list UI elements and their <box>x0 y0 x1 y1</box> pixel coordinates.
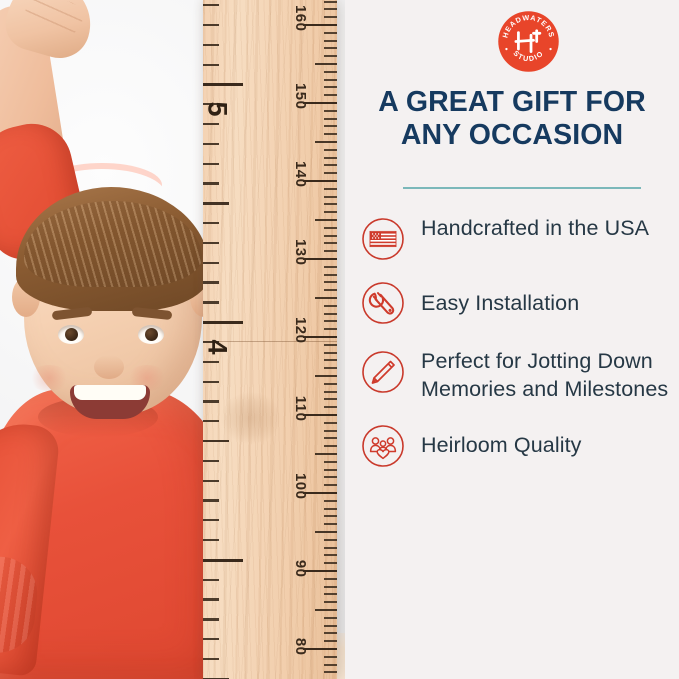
metric-tick-157 <box>324 47 337 49</box>
metric-label-80: 80 <box>293 638 310 656</box>
metric-tick-131 <box>324 250 337 252</box>
metric-tick-99 <box>324 500 337 502</box>
metric-tick-127 <box>324 281 337 283</box>
headwaters-studio-logo: HEADWATERS STUDIO <box>497 10 560 73</box>
metric-tick-86 <box>324 601 337 603</box>
metric-tick-146 <box>324 133 337 135</box>
metric-tick-116 <box>324 367 337 369</box>
metric-tick-84 <box>324 617 337 619</box>
feature-list: Handcrafted in the USA Easy Installation <box>361 214 679 485</box>
metric-tick-159 <box>324 32 337 34</box>
metric-tick-87 <box>324 593 337 595</box>
metric-tick-112 <box>324 398 337 400</box>
feature-label-heirloom: Heirloom Quality <box>421 431 582 460</box>
metric-tick-104 <box>324 461 337 463</box>
metric-tick-126 <box>324 289 337 291</box>
metric-tick-153 <box>324 79 337 81</box>
child-nose <box>94 355 124 379</box>
metric-tick-103 <box>324 469 337 471</box>
pencil-icon <box>361 350 405 394</box>
metric-tick-123 <box>324 313 337 315</box>
metric-tick-96 <box>324 523 337 525</box>
imperial-tick-62in <box>203 44 219 46</box>
metric-tick-83 <box>324 625 337 627</box>
imperial-tick-61in <box>203 64 219 66</box>
metric-tick-89 <box>324 578 337 580</box>
metric-label-160: 160 <box>293 5 310 32</box>
imperial-tick-55in <box>203 182 219 184</box>
imperial-tick-39in <box>203 499 219 501</box>
imperial-tick-35in <box>203 579 219 581</box>
metric-tick-95 <box>315 531 337 533</box>
metric-tick-132 <box>324 242 337 244</box>
imperial-foot-label-4: 4 <box>203 340 233 355</box>
metric-tick-122 <box>324 320 337 322</box>
imperial-tick-63in <box>203 24 219 26</box>
metric-tick-152 <box>324 86 337 88</box>
feature-label-memories: Perfect for Jotting Down Memories and Mi… <box>421 347 679 404</box>
imperial-tick-33in <box>203 618 219 620</box>
metric-tick-88 <box>324 586 337 588</box>
imperial-tick-50in <box>203 281 219 283</box>
imperial-tick-42in <box>203 440 229 442</box>
metric-tick-158 <box>324 40 337 42</box>
metric-tick-143 <box>324 157 337 159</box>
imperial-tick-31in <box>203 658 219 660</box>
metric-tick-133 <box>324 235 337 237</box>
metric-tick-142 <box>324 164 337 166</box>
feature-label-handcrafted: Handcrafted in the USA <box>421 214 649 243</box>
metric-tick-92 <box>324 554 337 556</box>
imperial-tick-38in <box>203 519 219 521</box>
metric-tick-141 <box>324 172 337 174</box>
logo-dot-left <box>505 48 507 50</box>
child-eye-right <box>138 325 164 344</box>
metric-tick-129 <box>324 266 337 268</box>
metric-tick-128 <box>324 274 337 276</box>
metric-tick-155 <box>315 63 337 65</box>
imperial-tick-51in <box>203 262 219 264</box>
imperial-tick-32in <box>203 638 219 640</box>
growth-chart-ruler: 1601501401301201101009080 54 <box>203 0 337 679</box>
metric-tick-156 <box>324 55 337 57</box>
metric-tick-93 <box>324 547 337 549</box>
wrench-icon <box>361 281 405 325</box>
metric-tick-115 <box>315 375 337 377</box>
metric-tick-114 <box>324 383 337 385</box>
imperial-tick-53in <box>203 222 219 224</box>
metric-label-100: 100 <box>293 473 310 500</box>
metric-tick-106 <box>324 445 337 447</box>
imperial-tick-52in <box>203 242 219 244</box>
metric-tick-111 <box>324 406 337 408</box>
metric-tick-107 <box>324 437 337 439</box>
metric-tick-105 <box>315 453 337 455</box>
usa-flag-icon <box>361 217 405 261</box>
metric-tick-117 <box>324 359 337 361</box>
child-cheek-left <box>28 365 70 391</box>
imperial-tick-64in <box>203 4 219 6</box>
page-title: A GREAT GIFT FOR ANY OCCASION <box>355 86 669 153</box>
metric-tick-85 <box>315 609 337 611</box>
family-heart-icon <box>361 424 405 468</box>
metric-label-150: 150 <box>293 83 310 110</box>
metric-tick-79 <box>324 656 337 658</box>
metric-tick-94 <box>324 539 337 541</box>
imperial-tick-43in <box>203 420 219 422</box>
imperial-tick-58in <box>203 123 219 125</box>
imperial-tick-60in <box>203 83 243 86</box>
metric-tick-91 <box>324 562 337 564</box>
headline-line-2: ANY OCCASION <box>401 119 623 151</box>
metric-tick-121 <box>324 328 337 330</box>
feature-item-handcrafted: Handcrafted in the USA <box>361 214 679 261</box>
metric-tick-108 <box>324 430 337 432</box>
metric-tick-139 <box>324 188 337 190</box>
imperial-foot-label-5: 5 <box>203 102 233 117</box>
metric-tick-78 <box>324 664 337 666</box>
feature-item-memories: Perfect for Jotting Down Memories and Mi… <box>361 347 679 404</box>
metric-tick-163 <box>324 1 337 3</box>
metric-tick-151 <box>324 94 337 96</box>
imperial-tick-34in <box>203 598 219 600</box>
imperial-tick-45in <box>203 381 219 383</box>
metric-tick-102 <box>324 476 337 478</box>
metric-tick-scale: 1601501401301201101009080 <box>297 0 337 679</box>
child-smile <box>70 385 150 419</box>
imperial-tick-54in <box>203 202 229 204</box>
imperial-tick-48in <box>203 321 243 324</box>
metric-tick-136 <box>324 211 337 213</box>
metric-label-120: 120 <box>293 317 310 344</box>
metric-tick-161 <box>324 16 337 18</box>
metric-label-110: 110 <box>293 396 310 422</box>
metric-tick-101 <box>324 484 337 486</box>
metric-label-140: 140 <box>293 161 310 188</box>
metric-label-130: 130 <box>293 239 310 266</box>
metric-tick-97 <box>324 515 337 517</box>
imperial-tick-44in <box>203 400 219 402</box>
imperial-tick-57in <box>203 143 219 145</box>
metric-tick-144 <box>324 149 337 151</box>
metric-tick-118 <box>324 352 337 354</box>
imperial-tick-49in <box>203 301 219 303</box>
imperial-tick-40in <box>203 480 219 482</box>
metric-tick-77 <box>324 671 337 673</box>
metric-tick-154 <box>324 71 337 73</box>
metric-tick-125 <box>315 297 337 299</box>
metric-tick-82 <box>324 632 337 634</box>
imperial-tick-41in <box>203 460 219 462</box>
title-divider <box>403 187 641 189</box>
headline-line-1: A GREAT GIFT FOR <box>378 86 646 118</box>
metric-tick-109 <box>324 422 337 424</box>
metric-label-90: 90 <box>293 560 310 578</box>
metric-tick-81 <box>324 640 337 642</box>
child-eye-left <box>58 325 84 344</box>
marketing-copy-panel: HEADWATERS STUDIO A GREAT GIFT FOR AN <box>345 0 679 679</box>
metric-tick-98 <box>324 508 337 510</box>
metric-tick-148 <box>324 118 337 120</box>
imperial-tick-46in <box>203 361 219 363</box>
imperial-tick-scale: 54 <box>203 0 247 679</box>
metric-tick-119 <box>324 344 337 346</box>
feature-label-installation: Easy Installation <box>421 289 579 318</box>
metric-tick-137 <box>324 203 337 205</box>
logo-dot-right <box>549 48 551 50</box>
imperial-tick-56in <box>203 163 219 165</box>
feature-item-installation: Easy Installation <box>361 281 679 325</box>
metric-tick-124 <box>324 305 337 307</box>
metric-tick-134 <box>324 227 337 229</box>
imperial-tick-37in <box>203 539 219 541</box>
feature-item-heirloom: Heirloom Quality <box>361 424 679 468</box>
imperial-tick-36in <box>203 559 243 562</box>
metric-tick-135 <box>315 219 337 221</box>
metric-tick-138 <box>324 196 337 198</box>
product-feature-image: 1601501401301201101009080 54 HEADWATERS … <box>0 0 679 679</box>
metric-tick-145 <box>315 141 337 143</box>
metric-tick-149 <box>324 110 337 112</box>
metric-tick-113 <box>324 391 337 393</box>
metric-tick-147 <box>324 125 337 127</box>
metric-tick-162 <box>324 8 337 10</box>
